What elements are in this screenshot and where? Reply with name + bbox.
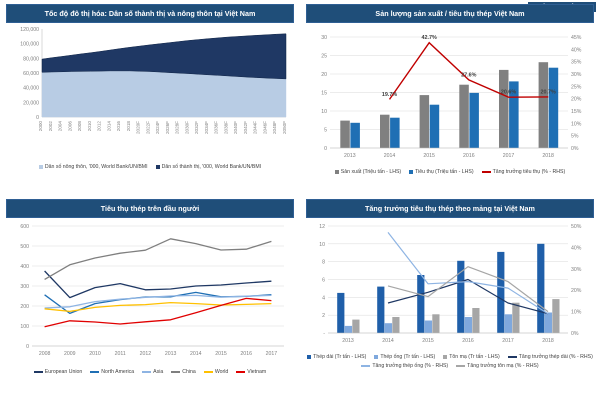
svg-text:2017: 2017 — [502, 338, 514, 344]
svg-text:40%: 40% — [571, 47, 582, 53]
svg-text:0: 0 — [26, 344, 29, 350]
legend-square-swatch — [374, 355, 378, 359]
legend-label: Tôn mạ (Tr tấn - LHS) — [449, 354, 500, 360]
svg-text:2030F: 2030F — [184, 121, 189, 134]
svg-text:10: 10 — [319, 242, 325, 248]
panel-segments-title: Tăng trưởng tiêu thụ thép theo mảng tại … — [306, 199, 594, 218]
svg-text:2042F: 2042F — [243, 121, 248, 134]
svg-text:600: 600 — [20, 224, 29, 230]
svg-text:2013: 2013 — [165, 351, 177, 357]
svg-text:2014: 2014 — [384, 153, 396, 159]
svg-text:5%: 5% — [571, 134, 579, 140]
svg-text:40%: 40% — [571, 245, 582, 251]
svg-text:20%: 20% — [571, 288, 582, 294]
legend-line-swatch — [456, 365, 465, 367]
panel-production: Sản lượng sản xuất / tiêu thụ thép Việt … — [300, 0, 600, 195]
legend-item[interactable]: Asia — [142, 369, 163, 375]
svg-text:2016: 2016 — [116, 121, 121, 132]
svg-text:10%: 10% — [571, 310, 582, 316]
production-chart-svg: 0510152025300%5%10%15%20%25%30%35%40%45%… — [306, 23, 594, 168]
legend-label: Tăng trưởng tiêu thụ (% - RHS) — [493, 169, 566, 175]
svg-text:12: 12 — [319, 224, 325, 230]
svg-text:60,000: 60,000 — [23, 71, 39, 77]
legend-label: World — [215, 369, 228, 375]
svg-text:2028F: 2028F — [175, 121, 180, 134]
svg-text:50%: 50% — [571, 224, 582, 230]
legend-item[interactable]: Tăng trưởng thép ống (% - RHS) — [361, 363, 448, 369]
panel-production-title: Sản lượng sản xuất / tiêu thụ thép Việt … — [306, 4, 594, 23]
panel-urbanization-legend: Dân số nông thôn, '000, World Bank/UN/BM… — [6, 164, 294, 170]
panel-segments: Tăng trưởng tiêu thụ thép theo mảng tại … — [300, 195, 600, 400]
svg-text:2038F: 2038F — [223, 121, 228, 134]
panel-production-plot: 0510152025300%5%10%15%20%25%30%35%40%45%… — [306, 23, 594, 168]
svg-text:8: 8 — [322, 260, 325, 266]
legend-square-swatch — [156, 165, 160, 169]
panel-percapita-legend: European UnionNorth AmericaAsiaChinaWorl… — [6, 369, 294, 375]
svg-text:120,000: 120,000 — [20, 27, 39, 33]
svg-text:80,000: 80,000 — [23, 56, 39, 62]
svg-text:20.6%: 20.6% — [501, 90, 516, 96]
legend-item[interactable]: Tiêu thụ (Triệu tấn - LHS) — [409, 169, 473, 175]
legend-item[interactable]: Sản xuất (Triệu tấn - LHS) — [335, 169, 401, 175]
svg-text:20,000: 20,000 — [23, 100, 39, 106]
legend-label: Vietnam — [247, 369, 266, 375]
legend-item[interactable]: North America — [90, 369, 134, 375]
svg-text:2024F: 2024F — [155, 121, 160, 134]
svg-text:2020F: 2020F — [136, 121, 141, 134]
legend-label: Sản xuất (Triệu tấn - LHS) — [341, 169, 401, 175]
svg-text:100,000: 100,000 — [20, 42, 39, 48]
panel-urbanization-title: Tốc độ đô thị hóa: Dân số thành thị và n… — [6, 4, 294, 23]
svg-text:30%: 30% — [571, 72, 582, 78]
legend-label: European Union — [45, 369, 83, 375]
svg-text:15%: 15% — [571, 109, 582, 115]
svg-text:6: 6 — [322, 278, 325, 284]
legend-label: Tăng trưởng tôn mạ (% - RHS) — [467, 363, 538, 369]
svg-text:2016: 2016 — [240, 351, 252, 357]
svg-text:0%: 0% — [571, 331, 579, 337]
svg-text:5: 5 — [324, 128, 327, 134]
segments-chart-svg: -246810120%10%20%30%40%50%20132014201520… — [306, 218, 594, 353]
svg-text:2032F: 2032F — [194, 121, 199, 134]
legend-label: Dân số thành thị, '000, World Bank/UN/BM… — [162, 164, 262, 170]
svg-text:2016: 2016 — [463, 153, 475, 159]
legend-label: Tiêu thụ (Triệu tấn - LHS) — [415, 169, 473, 175]
panel-segments-plot: -246810120%10%20%30%40%50%20132014201520… — [306, 218, 594, 353]
svg-text:2016: 2016 — [462, 338, 474, 344]
svg-text:30: 30 — [321, 35, 327, 41]
legend-line-swatch — [142, 371, 151, 373]
svg-text:2015: 2015 — [423, 153, 435, 159]
urbanization-chart-svg: 020,00040,00060,00080,000100,000120,0002… — [6, 23, 294, 163]
legend-line-swatch — [482, 171, 491, 173]
svg-text:30%: 30% — [571, 267, 582, 273]
legend-label: China — [182, 369, 196, 375]
panel-percapita: Tiêu thụ thép trên đầu người 01002003004… — [0, 195, 300, 400]
svg-text:500: 500 — [20, 244, 29, 250]
svg-text:100: 100 — [20, 324, 29, 330]
svg-text:2040F: 2040F — [233, 121, 238, 134]
svg-text:20%: 20% — [571, 97, 582, 103]
legend-square-swatch — [335, 170, 339, 174]
svg-text:45%: 45% — [571, 35, 582, 41]
legend-item[interactable]: Thép dài (Tr tấn - LHS) — [307, 354, 366, 360]
svg-text:-: - — [323, 331, 325, 337]
svg-text:40,000: 40,000 — [23, 86, 39, 92]
legend-item[interactable]: Dân số thành thị, '000, World Bank/UN/BM… — [156, 164, 262, 170]
legend-item[interactable]: Tăng trưởng tôn mạ (% - RHS) — [456, 363, 538, 369]
svg-text:2006: 2006 — [67, 121, 72, 132]
legend-item[interactable]: Tăng trưởng thép dài (% - RHS) — [508, 354, 593, 360]
svg-text:2010: 2010 — [89, 351, 101, 357]
legend-square-swatch — [39, 165, 43, 169]
svg-text:300: 300 — [20, 284, 29, 290]
svg-text:0: 0 — [324, 146, 327, 152]
svg-text:2048F: 2048F — [272, 121, 277, 134]
legend-line-swatch — [34, 371, 43, 373]
svg-text:20: 20 — [321, 72, 327, 78]
panel-segments-legend: Thép dài (Tr tấn - LHS)Thép ống (Tr tấn … — [306, 354, 594, 369]
svg-text:2013: 2013 — [342, 338, 354, 344]
svg-text:2014: 2014 — [382, 338, 394, 344]
svg-text:2011: 2011 — [115, 351, 126, 357]
legend-item[interactable]: Vietnam — [236, 369, 266, 375]
svg-text:35%: 35% — [571, 60, 582, 66]
legend-line-swatch — [171, 371, 180, 373]
svg-text:2015: 2015 — [422, 338, 434, 344]
panel-urbanization: Tốc độ đô thị hóa: Dân số thành thị và n… — [0, 0, 300, 195]
legend-item[interactable]: Thép ống (Tr tấn - LHS) — [374, 354, 435, 360]
svg-text:2004: 2004 — [58, 121, 63, 132]
legend-square-swatch — [409, 170, 413, 174]
svg-text:200: 200 — [20, 304, 29, 310]
panel-percapita-plot: 0100200300400500600200820092010201120122… — [6, 218, 294, 368]
legend-item[interactable]: European Union — [34, 369, 83, 375]
legend-line-swatch — [236, 371, 245, 373]
legend-item[interactable]: China — [171, 369, 196, 375]
legend-square-swatch — [307, 355, 311, 359]
svg-text:2018: 2018 — [542, 153, 554, 159]
legend-item[interactable]: World — [204, 369, 228, 375]
svg-text:2000: 2000 — [38, 121, 43, 132]
svg-text:2046F: 2046F — [262, 121, 267, 134]
svg-text:2036F: 2036F — [214, 121, 219, 134]
legend-line-swatch — [204, 371, 213, 373]
svg-text:19.7%: 19.7% — [382, 92, 397, 98]
legend-label: Asia — [153, 369, 163, 375]
svg-text:2026F: 2026F — [165, 121, 170, 134]
svg-text:2008: 2008 — [39, 351, 51, 357]
svg-text:2012: 2012 — [140, 351, 152, 357]
svg-text:2: 2 — [322, 313, 325, 319]
svg-text:2014: 2014 — [190, 351, 202, 357]
legend-label: Tăng trưởng thép dài (% - RHS) — [519, 354, 593, 360]
svg-text:2008: 2008 — [77, 121, 82, 132]
percapita-chart-svg: 0100200300400500600200820092010201120122… — [6, 218, 294, 368]
legend-line-swatch — [90, 371, 99, 373]
svg-text:2002: 2002 — [48, 121, 53, 132]
svg-text:2014: 2014 — [106, 121, 111, 132]
legend-line-swatch — [508, 356, 517, 358]
svg-text:2044F: 2044F — [253, 121, 258, 134]
svg-text:2013: 2013 — [344, 153, 356, 159]
svg-text:2018: 2018 — [542, 338, 554, 344]
legend-item[interactable]: Tăng trưởng tiêu thụ (% - RHS) — [482, 169, 566, 175]
svg-text:4: 4 — [322, 295, 325, 301]
legend-line-swatch — [361, 365, 370, 367]
legend-item[interactable]: Tôn mạ (Tr tấn - LHS) — [443, 354, 500, 360]
svg-text:2034F: 2034F — [204, 121, 209, 134]
legend-square-swatch — [443, 355, 447, 359]
report-page: CHỨNG KHOÁN MB Tốc độ đô thị hóa: Dân số… — [0, 0, 600, 400]
svg-text:0: 0 — [36, 115, 39, 121]
legend-label: Thép dài (Tr tấn - LHS) — [313, 354, 366, 360]
svg-text:10: 10 — [321, 109, 327, 115]
panel-production-legend: Sản xuất (Triệu tấn - LHS)Tiêu thụ (Triệ… — [306, 169, 594, 175]
chart-grid: Tốc độ đô thị hóa: Dân số thành thị và n… — [0, 0, 600, 400]
svg-text:42.7%: 42.7% — [422, 35, 437, 41]
legend-label: Dân số nông thôn, '000, World Bank/UN/BM… — [45, 164, 148, 170]
legend-label: Tăng trưởng thép ống (% - RHS) — [372, 363, 448, 369]
panel-urbanization-plot: 020,00040,00060,00080,000100,000120,0002… — [6, 23, 294, 163]
svg-text:2050F: 2050F — [282, 121, 287, 134]
svg-text:25%: 25% — [571, 84, 582, 90]
svg-text:2015: 2015 — [215, 351, 227, 357]
svg-text:2017: 2017 — [503, 153, 515, 159]
svg-text:15: 15 — [321, 91, 327, 97]
svg-text:10%: 10% — [571, 121, 582, 127]
svg-text:2010: 2010 — [87, 121, 92, 132]
svg-text:27.6%: 27.6% — [461, 72, 476, 78]
svg-text:2018: 2018 — [126, 121, 131, 132]
legend-label: North America — [101, 369, 134, 375]
panel-percapita-title: Tiêu thụ thép trên đầu người — [6, 199, 294, 218]
legend-item[interactable]: Dân số nông thôn, '000, World Bank/UN/BM… — [39, 164, 148, 170]
svg-text:0%: 0% — [571, 146, 579, 152]
svg-text:20.7%: 20.7% — [541, 89, 556, 95]
svg-text:2009: 2009 — [64, 351, 76, 357]
svg-text:2012: 2012 — [97, 121, 102, 132]
svg-text:400: 400 — [20, 264, 29, 270]
svg-text:25: 25 — [321, 54, 327, 60]
svg-text:2022F: 2022F — [145, 121, 150, 134]
svg-text:2017: 2017 — [266, 351, 278, 357]
legend-label: Thép ống (Tr tấn - LHS) — [380, 354, 435, 360]
